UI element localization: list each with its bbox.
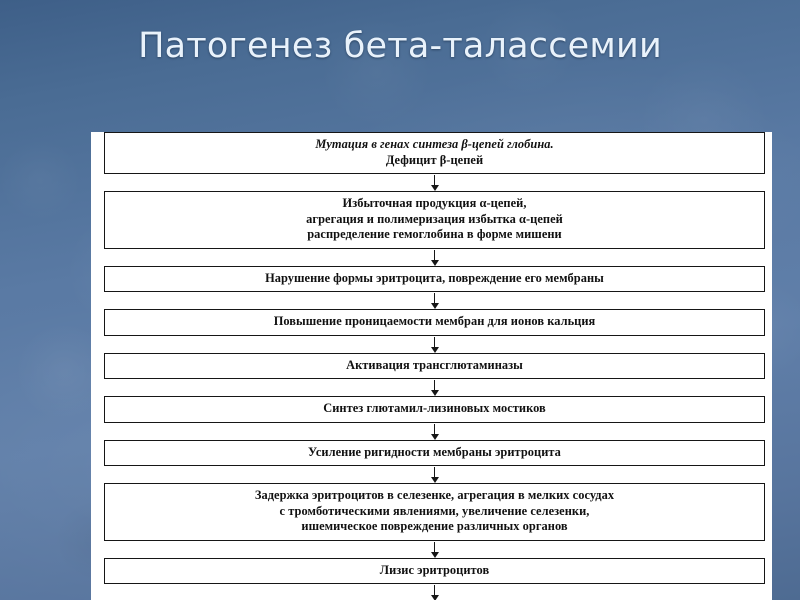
flow-step-line: Дефицит β-цепей (111, 153, 758, 169)
flow-step-spleen-retention: Задержка эритроцитов в селезенке, агрега… (104, 483, 765, 541)
flow-step-membrane-rigidity: Усиление ригидности мембраны эритроцита (104, 440, 765, 467)
flow-step-line: с тромботическими явлениями, увеличение … (111, 504, 758, 520)
flow-step-line: Синтез глютамил-лизиновых мостиков (111, 401, 758, 417)
flow-arrow-down-icon (104, 466, 765, 483)
flow-step-line: Мутация в генах синтеза β-цепей глобина. (111, 137, 758, 153)
flow-step-alpha-chain-excess: Избыточная продукция α-цепей,агрегация и… (104, 191, 765, 249)
flow-arrow-down-icon (104, 336, 765, 353)
flow-step-line: Нарушение формы эритроцита, повреждение … (111, 271, 758, 287)
flow-step-mutation: Мутация в генах синтеза β-цепей глобина.… (104, 132, 765, 174)
flow-step-line: агрегация и полимеризация избытка α-цепе… (111, 212, 758, 228)
flow-step-line: Активация трансглютаминазы (111, 358, 758, 374)
flow-step-line: Повышение проницаемости мембран для ионо… (111, 314, 758, 330)
flow-step-erythrocyte-shape-disruption: Нарушение формы эритроцита, повреждение … (104, 266, 765, 293)
flow-step-line: Задержка эритроцитов в селезенке, агрега… (111, 488, 758, 504)
flow-arrow-down-icon (104, 423, 765, 440)
flow-step-line: Усиление ригидности мембраны эритроцита (111, 445, 758, 461)
flow-arrow-down-icon (104, 174, 765, 191)
flow-arrow-down-icon (104, 379, 765, 396)
flow-step-line: Избыточная продукция α-цепей, (111, 196, 758, 212)
flow-arrow-down-icon (104, 292, 765, 309)
page-title: Патогенез бета-талассемии (0, 26, 800, 66)
flow-step-calcium-permeability: Повышение проницаемости мембран для ионо… (104, 309, 765, 336)
slide-canvas: Патогенез бета-талассемии Мутация в гена… (0, 0, 800, 600)
arrow-head (431, 595, 439, 600)
flow-step-line: ишемическое повреждение различных органо… (111, 519, 758, 535)
flow-step-transglutaminase-activation: Активация трансглютаминазы (104, 353, 765, 380)
flow-arrow-down-icon (104, 249, 765, 266)
flow-arrow-down-icon (104, 541, 765, 558)
flow-arrow-down-icon (104, 584, 765, 600)
flow-step-line: распределение гемоглобина в форме мишени (111, 227, 758, 243)
pathogenesis-flowchart: Мутация в генах синтеза β-цепей глобина.… (104, 132, 765, 600)
scanned-document-panel: Мутация в генах синтеза β-цепей глобина.… (91, 132, 772, 600)
flow-step-glutamyl-lysine-bridges: Синтез глютамил-лизиновых мостиков (104, 396, 765, 423)
flow-step-erythrocyte-lysis: Лизис эритроцитов (104, 558, 765, 585)
flow-step-line: Лизис эритроцитов (111, 563, 758, 579)
